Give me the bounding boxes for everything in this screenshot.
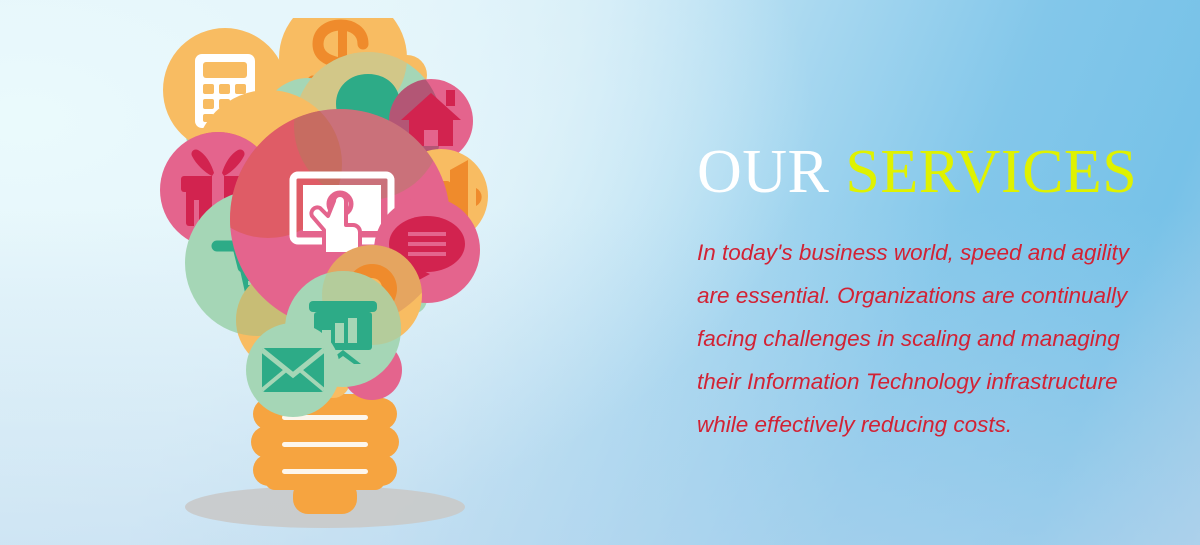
- envelope-mail-icon: [262, 348, 324, 392]
- paragraph-line: facing challenges in scaling and managin…: [697, 317, 1149, 360]
- lightbulb-illustration: [150, 18, 510, 538]
- headline-word-services: SERVICES: [845, 138, 1137, 206]
- banner-copy: OUR SERVICES In today's business world, …: [697, 140, 1167, 446]
- paragraph-line: their Information Technology infrastruct…: [697, 360, 1149, 403]
- banner-paragraph: In today's business world, speed and agi…: [697, 231, 1149, 446]
- paragraph-line: are essential. Organizations are continu…: [697, 274, 1149, 317]
- services-banner: OUR SERVICES In today's business world, …: [0, 0, 1200, 545]
- headline-word-our: OUR: [697, 138, 829, 206]
- paragraph-line: In today's business world, speed and agi…: [697, 231, 1149, 274]
- bubble-envelope: [246, 323, 340, 417]
- page-title: OUR SERVICES: [697, 140, 1167, 205]
- paragraph-line: while effectively reducing costs.: [697, 403, 1149, 446]
